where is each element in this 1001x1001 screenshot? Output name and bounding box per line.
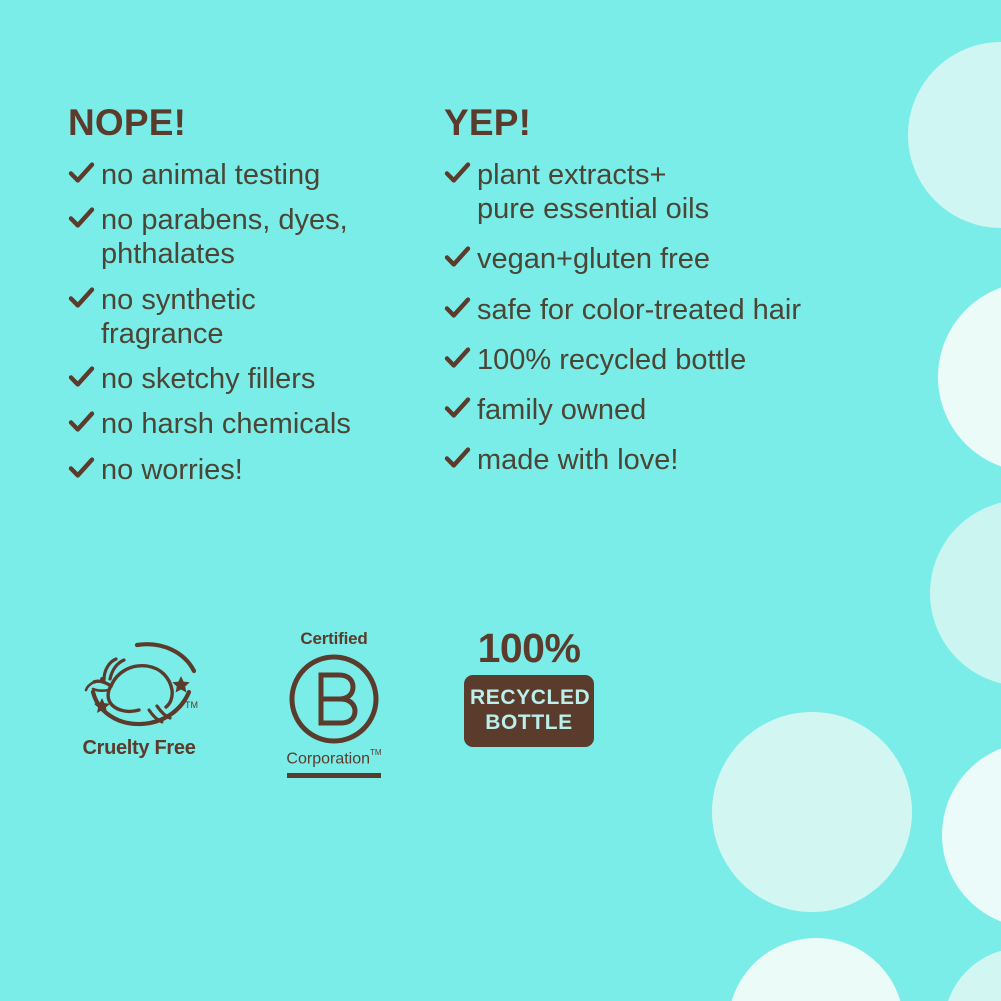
checkmark-icon [68,283,95,313]
list-item-label: no animal testing [101,158,320,192]
checkmark-icon [444,443,471,473]
yep-list: plant extracts+ pure essential oils vega… [444,158,914,478]
cruelty-free-label: Cruelty Free [68,738,210,758]
checkmark-icon [68,407,95,437]
nope-list: no animal testing no parabens, dyes, pht… [68,158,438,487]
list-item-label: no synthetic fragrance [101,283,256,351]
list-item-label: made with love! [477,443,679,477]
recycled-line-1: RECYCLED [470,685,588,710]
yep-column: YEP! plant extracts+ pure essential oils… [444,104,914,494]
b-corp-icon [286,651,382,747]
checkmark-icon [444,242,471,272]
list-item-label: vegan+gluten free [477,242,710,276]
list-item-label: plant extracts+ pure essential oils [477,158,709,226]
list-item-label: no sketchy fillers [101,362,315,396]
list-item-label: no parabens, dyes, phthalates [101,203,348,271]
product-claims-poster: NOPE! no animal testing no parabens, dye… [0,0,1001,1001]
svg-text:TM: TM [185,700,198,710]
checkmark-icon [444,393,471,423]
list-item: made with love! [444,443,914,477]
b-corp-underline [287,773,381,778]
list-item-label: family owned [477,393,646,427]
b-corp-certified-label: Certified [278,630,390,647]
recycled-percent-label: 100% [464,628,594,669]
list-item: safe for color-treated hair [444,293,914,327]
decorative-circle [908,42,1001,228]
decorative-circle [728,938,904,1001]
recycled-bottle-box: RECYCLED BOTTLE [464,675,594,747]
checkmark-icon [444,158,471,188]
list-item: no animal testing [68,158,438,192]
list-item-label: 100% recycled bottle [477,343,746,377]
list-item: no sketchy fillers [68,362,438,396]
checkmark-icon [68,203,95,233]
decorative-circle [944,948,1001,1001]
yep-column-title: YEP! [444,104,914,141]
checkmark-icon [444,293,471,323]
list-item: no synthetic fragrance [68,283,438,351]
cruelty-free-badge: TM Cruelty Free [68,632,210,758]
trademark-symbol: TM [370,748,382,757]
list-item: family owned [444,393,914,427]
checkmark-icon [68,158,95,188]
list-item-label: no harsh chemicals [101,407,351,441]
nope-column-title: NOPE! [68,104,438,141]
checkmark-icon [68,453,95,483]
list-item: plant extracts+ pure essential oils [444,158,914,226]
list-item: no worries! [68,453,438,487]
checkmark-icon [68,362,95,392]
recycled-line-2: BOTTLE [470,710,588,735]
recycled-bottle-badge: 100% RECYCLED BOTTLE [464,628,594,747]
b-corp-badge: Certified CorporationTM [278,630,390,778]
list-item-label: no worries! [101,453,243,487]
b-corp-corporation-label: CorporationTM [286,751,381,767]
nope-column: NOPE! no animal testing no parabens, dye… [68,104,438,498]
leaping-bunny-icon: TM [71,632,207,736]
checkmark-icon [444,343,471,373]
decorative-circle [938,282,1001,472]
list-item: 100% recycled bottle [444,343,914,377]
list-item: no parabens, dyes, phthalates [68,203,438,271]
certification-badges: TM Cruelty Free Certified Corporation [0,620,1001,800]
list-item: no harsh chemicals [68,407,438,441]
list-item-label: safe for color-treated hair [477,293,801,327]
list-item: vegan+gluten free [444,242,914,276]
